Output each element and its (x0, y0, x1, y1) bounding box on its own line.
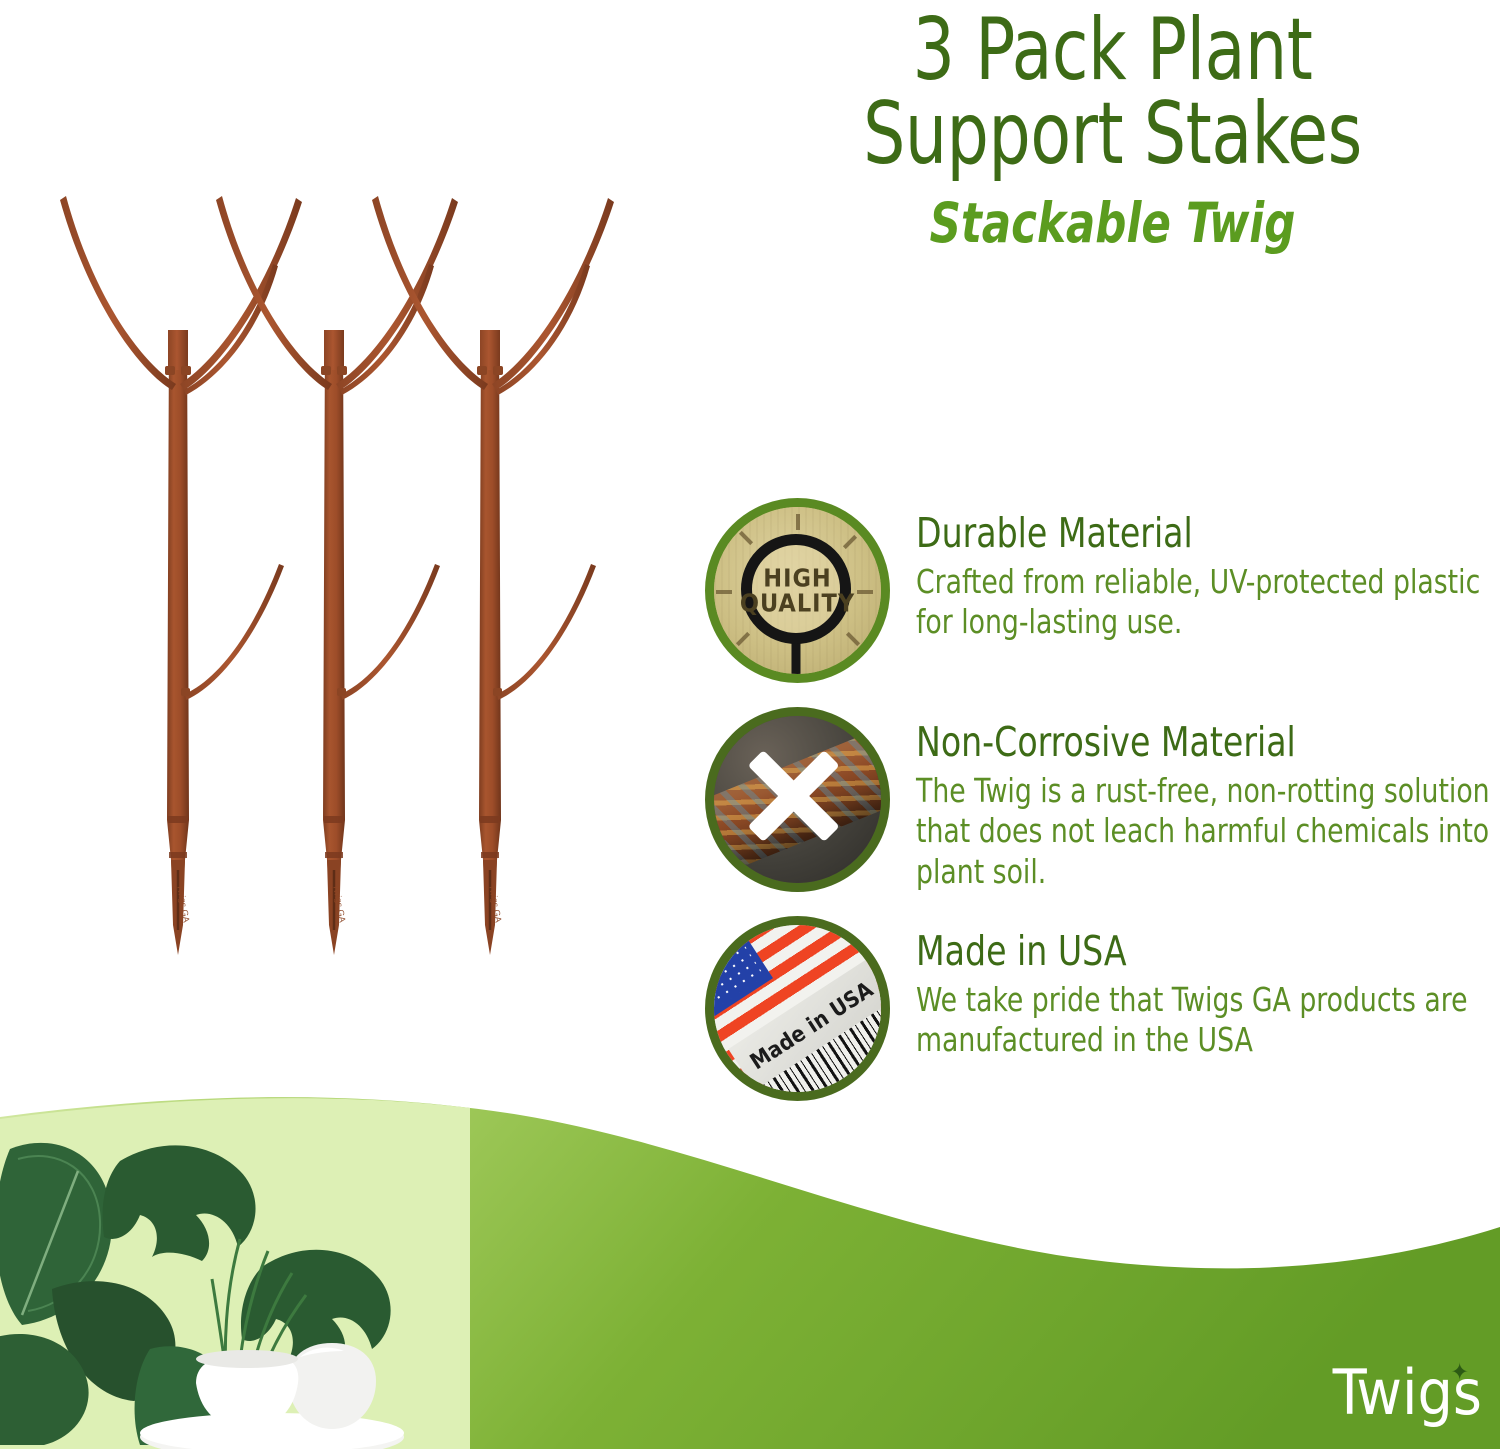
feature-durable-material: HIGH QUALITY Durable Material Crafted fr… (705, 498, 1495, 683)
brand-logo: Twigs ✦ (1333, 1356, 1482, 1429)
feature-text: Durable Material Crafted from reliable, … (916, 498, 1495, 643)
made-in-usa-flag-barcode-icon: Made in USA (705, 916, 890, 1101)
features-list: HIGH QUALITY Durable Material Crafted fr… (705, 498, 1495, 1125)
plant-scene (0, 1089, 470, 1449)
high-quality-stamp-text: HIGH QUALITY (714, 565, 881, 616)
stamp-line-1: HIGH (714, 565, 881, 591)
bottom-decoration: Twigs ✦ (0, 1089, 1500, 1449)
product-image-stakes: Twigs GA (0, 120, 680, 1020)
page-subtitle: Stackable Twig (785, 191, 1441, 255)
page-title: 3 Pack Plant Support Stakes (792, 8, 1433, 177)
title-line-2: Support Stakes (792, 92, 1433, 176)
feature-title: Durable Material (916, 512, 1437, 555)
feature-title: Non-Corrosive Material (916, 721, 1437, 764)
stakes-illustration: Twigs GA (0, 120, 680, 1020)
high-quality-magnifier-icon: HIGH QUALITY (705, 498, 890, 683)
feature-body: Crafted from reliable, UV-protected plas… (916, 562, 1500, 643)
feature-made-in-usa: Made in USA Made in USA We take pride th… (705, 916, 1495, 1101)
title-line-1: 3 Pack Plant (792, 8, 1433, 92)
rusty-pipe-crossed-out-icon (705, 707, 890, 892)
stamp-line-2: QUALITY (714, 591, 881, 617)
tick-mark (796, 514, 800, 530)
feature-non-corrosive-material: Non-Corrosive Material The Twig is a rus… (705, 707, 1495, 892)
leaf-star-icon: ✦ (1451, 1358, 1469, 1386)
bottom-scene-svg (0, 1089, 1500, 1449)
feature-title: Made in USA (916, 930, 1437, 973)
feature-body: We take pride that Twigs GA products are… (916, 980, 1500, 1061)
feature-body: The Twig is a rust-free, non-rotting sol… (916, 771, 1500, 892)
feature-text: Non-Corrosive Material The Twig is a rus… (916, 707, 1495, 892)
feature-text: Made in USA We take pride that Twigs GA … (916, 916, 1495, 1061)
infographic-canvas: 3 Pack Plant Support Stakes Stackable Tw… (0, 0, 1500, 1449)
header-block: 3 Pack Plant Support Stakes Stackable Tw… (740, 8, 1485, 255)
